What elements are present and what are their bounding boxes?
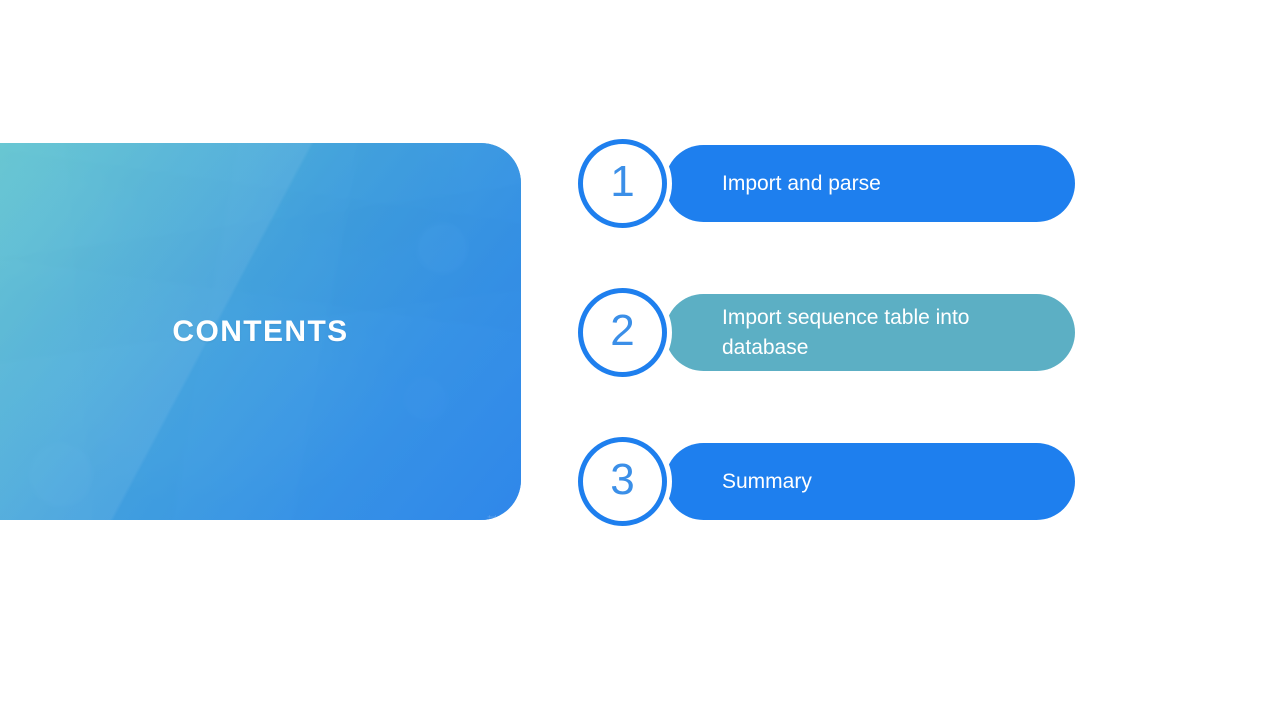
agenda-step-2-number: 2 <box>610 309 634 356</box>
agenda-step-3[interactable]: Summary 3 <box>578 437 1075 526</box>
page-title: CONTENTS <box>0 315 521 349</box>
agenda-step-list: Import and parse 1 Import sequence table… <box>578 139 1075 526</box>
agenda-step-2-pill[interactable]: Import sequence table into database <box>665 294 1075 371</box>
contents-title-panel: Contract CONTENTS <box>0 143 521 520</box>
agenda-step-3-badge[interactable]: 3 <box>578 437 667 526</box>
agenda-step-1-pill[interactable]: Import and parse <box>665 145 1075 222</box>
agenda-step-3-label: Summary <box>665 467 836 497</box>
agenda-step-1-number: 1 <box>610 160 634 207</box>
page-title-text: CONTENTS <box>132 315 348 349</box>
agenda-step-1[interactable]: Import and parse 1 <box>578 139 1075 228</box>
agenda-step-1-badge[interactable]: 1 <box>578 139 667 228</box>
panel-watermark-text: Contract <box>484 514 499 520</box>
agenda-step-3-number: 3 <box>610 458 634 505</box>
agenda-step-2-badge[interactable]: 2 <box>578 288 667 377</box>
agenda-step-2-label: Import sequence table into database <box>665 303 1046 363</box>
agenda-step-1-label: Import and parse <box>665 169 905 199</box>
slide-canvas: Contract CONTENTS Import and parse 1 Imp… <box>0 0 1280 720</box>
agenda-step-2[interactable]: Import sequence table into database 2 <box>578 288 1075 377</box>
agenda-step-3-pill[interactable]: Summary <box>665 443 1075 520</box>
